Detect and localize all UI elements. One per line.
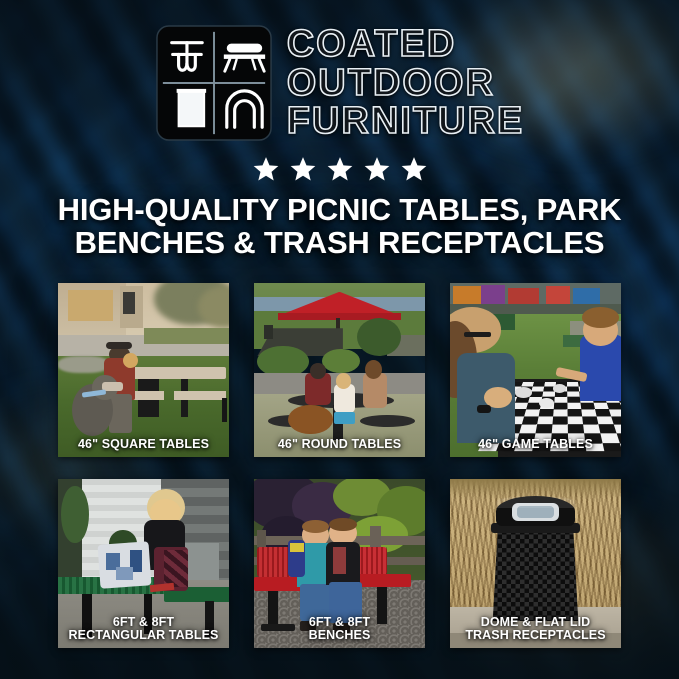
product-photo-square-tables [58,283,229,457]
star-icon [327,156,353,182]
headline: HIGH-QUALITY PICNIC TABLES, PARK BENCHES… [0,194,679,260]
product-caption-benches: 6FT & 8FT BENCHES [254,616,425,643]
headline-line-2: BENCHES & TRASH RECEPTACLES [26,227,653,260]
star-icon [253,156,279,182]
headline-line-1: HIGH-QUALITY PICNIC TABLES, PARK [58,192,622,227]
product-caption-rectangular-tables: 6FT & 8FT RECTANGULAR TABLES [58,616,229,643]
wordmark-line-3: FURNITURE [287,103,525,139]
product-photo-game-tables [450,283,621,457]
brand-logo: COATED OUTDOOR FURNITURE [0,0,679,142]
product-tile-square-tables[interactable]: 46" SQUARE TABLES [58,283,229,457]
product-tile-game-tables[interactable]: 46" GAME TABLES [450,283,621,457]
coated-outdoor-furniture-logo-icon [155,24,273,142]
product-tile-benches[interactable]: 6FT & 8FT BENCHES [254,479,425,648]
header: COATED OUTDOOR FURNITURE HIGH-QUALITY PI… [0,0,679,260]
star-icon [290,156,316,182]
wordmark-line-1: COATED [287,26,525,62]
wordmark: COATED OUTDOOR FURNITURE [287,26,525,139]
product-caption-round-tables: 46" ROUND TABLES [254,438,425,451]
product-tile-rectangular-tables[interactable]: 6FT & 8FT RECTANGULAR TABLES [58,479,229,648]
product-tile-trash-receptacles[interactable]: DOME & FLAT LID TRASH RECEPTACLES [450,479,621,648]
product-photo-round-tables [254,283,425,457]
promo-banner: COATED OUTDOOR FURNITURE HIGH-QUALITY PI… [0,0,679,679]
star-icon [364,156,390,182]
product-caption-trash-receptacles: DOME & FLAT LID TRASH RECEPTACLES [450,616,621,643]
wordmark-line-2: OUTDOOR [287,65,525,101]
trash-receptacle-icon [176,89,206,126]
star-rating [0,156,679,182]
star-icon [401,156,427,182]
product-caption-square-tables: 46" SQUARE TABLES [58,438,229,451]
product-grid: 46" SQUARE TABLES [58,283,621,648]
product-caption-game-tables: 46" GAME TABLES [450,438,621,451]
product-tile-round-tables[interactable]: 46" ROUND TABLES [254,283,425,457]
